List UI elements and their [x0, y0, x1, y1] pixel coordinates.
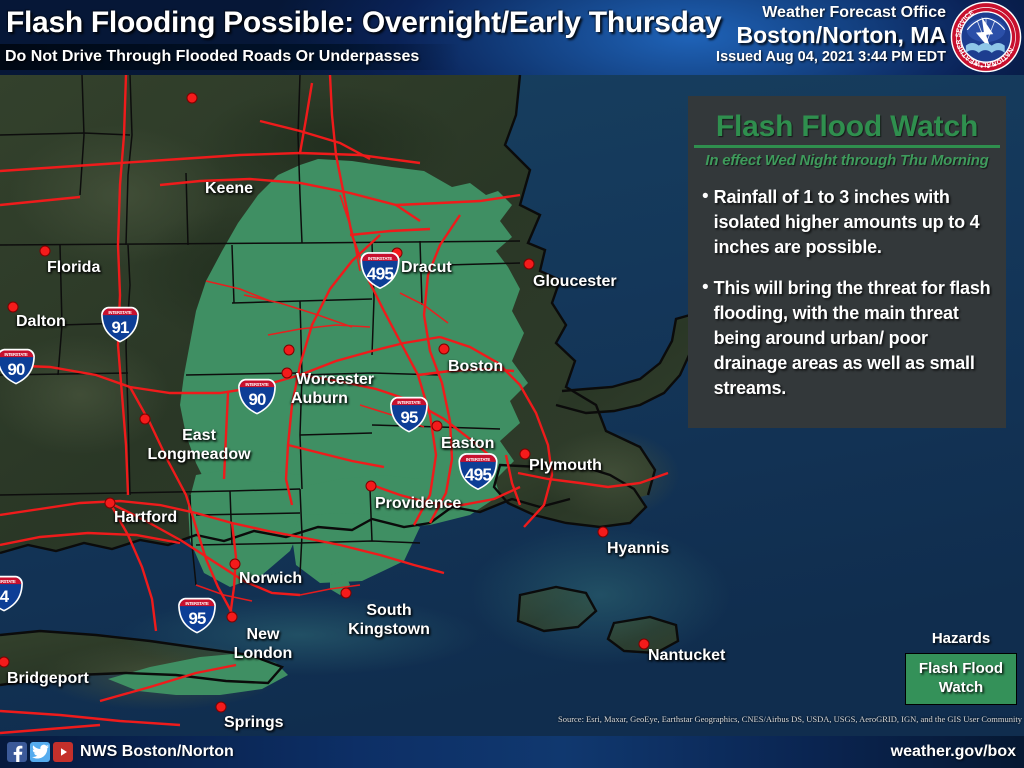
svg-text:95: 95	[401, 408, 418, 427]
bullet-text: This will bring the threat for flash flo…	[714, 276, 994, 401]
svg-text:INTERSTATE: INTERSTATE	[397, 400, 421, 405]
bullet-text: Rainfall of 1 to 3 inches with isolated …	[714, 185, 994, 260]
svg-text:90: 90	[249, 390, 266, 409]
city-label: Springs	[224, 713, 284, 732]
city-dot	[598, 527, 609, 538]
hazard-info-panel: Flash Flood Watch In effect Wed Night th…	[688, 96, 1006, 428]
city-dot	[341, 588, 352, 599]
city-dot	[230, 559, 241, 570]
city-dot	[227, 612, 238, 623]
city-dot	[105, 498, 116, 509]
footer-office-name: NWS Boston/Norton	[80, 742, 234, 762]
interstate-shield-495: INTERSTATE495	[355, 250, 405, 290]
city-label: Keene	[205, 179, 253, 198]
svg-text:INTERSTATE: INTERSTATE	[466, 457, 490, 462]
office-label: Weather Forecast Office	[646, 3, 946, 22]
city-label: Nantucket	[648, 646, 725, 665]
svg-text:95: 95	[189, 609, 206, 628]
interstate-shield-90: INTERSTATE90	[0, 346, 37, 386]
issued-time: Issued Aug 04, 2021 3:44 PM EDT	[646, 48, 946, 67]
city-label: Providence	[375, 494, 461, 513]
city-label: Worcester	[296, 370, 374, 389]
city-label: Dracut	[401, 258, 452, 277]
svg-text:495: 495	[465, 465, 493, 485]
page-subtitle: Do Not Drive Through Flooded Roads Or Un…	[5, 45, 419, 69]
footer-bar: NWS Boston/Norton weather.gov/box	[0, 736, 1024, 768]
bullet-dot: •	[702, 276, 709, 401]
city-dot	[40, 246, 51, 257]
svg-text:INTERSTATE: INTERSTATE	[185, 601, 209, 606]
panel-subtitle: In effect Wed Night through Thu Morning	[688, 152, 1006, 169]
page-title: Flash Flooding Possible: Overnight/Early…	[6, 2, 706, 44]
header-banner: Flash Flooding Possible: Overnight/Early…	[0, 0, 1024, 75]
city-dot	[524, 259, 535, 270]
svg-text:INTERSTATE: INTERSTATE	[4, 352, 28, 357]
panel-bullet: • This will bring the threat for flash f…	[702, 276, 994, 401]
svg-text:90: 90	[8, 360, 25, 379]
interstate-shield-495: INTERSTATE495	[453, 451, 503, 491]
interstate-shield-95: INTERSTATE95	[176, 595, 218, 635]
office-info: Weather Forecast Office Boston/Norton, M…	[646, 3, 946, 67]
panel-title-underline	[694, 145, 999, 148]
interstate-shield-95: INTERSTATE95	[388, 394, 430, 434]
svg-text:INTERSTATE: INTERSTATE	[108, 310, 132, 315]
city-label: Gloucester	[533, 272, 617, 291]
city-label: Auburn	[291, 389, 348, 408]
legend-title: Hazards	[905, 628, 1017, 650]
city-label: Bridgeport	[7, 669, 89, 688]
youtube-icon[interactable]	[53, 742, 73, 762]
city-dot	[366, 481, 377, 492]
bullet-dot: •	[702, 185, 709, 260]
city-label: Plymouth	[529, 456, 602, 475]
city-dot	[8, 302, 19, 313]
map-attribution: Source: Esri, Maxar, GeoEye, Earthstar G…	[558, 714, 1022, 724]
city-label: Norwich	[239, 569, 302, 588]
twitter-icon[interactable]	[30, 742, 50, 762]
legend-item-label: Flash Flood Watch	[908, 659, 1014, 697]
city-label: New London	[234, 625, 293, 663]
panel-bullet: • Rainfall of 1 to 3 inches with isolate…	[702, 185, 994, 260]
city-label: South Kingstown	[348, 601, 430, 639]
city-dot	[432, 421, 443, 432]
svg-text:INTERSTATE: INTERSTATE	[368, 256, 392, 261]
svg-text:INTERSTATE: INTERSTATE	[0, 579, 16, 584]
city-dot	[439, 344, 450, 355]
city-label: Florida	[47, 258, 100, 277]
svg-text:495: 495	[367, 264, 395, 284]
nws-logo-icon: NATIONAL WEATHER SERVICE	[950, 1, 1022, 73]
city-dot	[282, 368, 293, 379]
hazards-legend: Hazards Flash Flood Watch	[905, 628, 1017, 705]
legend-item-flash-flood-watch[interactable]: Flash Flood Watch	[905, 653, 1017, 705]
city-label: Boston	[448, 357, 503, 376]
interstate-shield-91: INTERSTATE91	[99, 304, 141, 344]
footer-website-link[interactable]: weather.gov/box	[891, 742, 1016, 762]
city-label: Hyannis	[607, 539, 669, 558]
city-dot	[216, 702, 227, 713]
city-label: Dalton	[16, 312, 66, 331]
svg-text:INTERSTATE: INTERSTATE	[245, 382, 269, 387]
weather-graphic: Flash Flooding Possible: Overnight/Early…	[0, 0, 1024, 768]
interstate-shield-4: INTERSTATE4	[0, 573, 25, 613]
city-dot	[284, 345, 295, 356]
office-name: Boston/Norton, MA	[646, 22, 946, 48]
svg-text:91: 91	[112, 318, 129, 337]
city-dot	[140, 414, 151, 425]
city-dot	[187, 93, 198, 104]
panel-title: Flash Flood Watch	[688, 110, 1006, 144]
interstate-shield-90: INTERSTATE90	[236, 376, 278, 416]
city-label: East Longmeadow	[147, 426, 250, 464]
city-label: Hartford	[114, 508, 177, 527]
facebook-icon[interactable]	[7, 742, 27, 762]
